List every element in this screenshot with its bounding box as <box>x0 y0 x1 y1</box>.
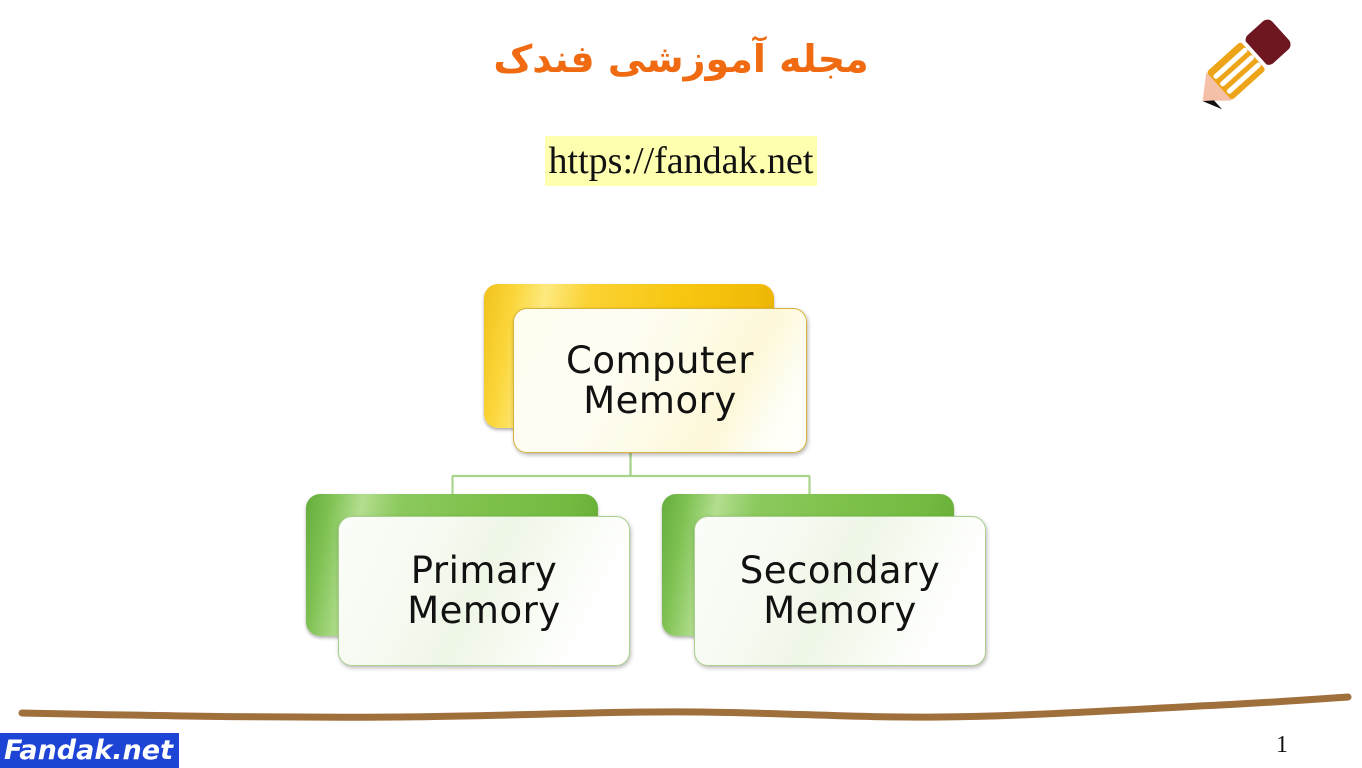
node-label-line-1: Computer <box>566 339 754 382</box>
node-label-line-2: Memory <box>583 379 736 422</box>
node-face[interactable]: Primary Memory <box>338 516 630 666</box>
node-computer-memory[interactable]: Computer Memory <box>484 284 814 459</box>
page-number: 1 <box>1262 730 1302 760</box>
site-url-link[interactable]: https://fandak.net <box>545 136 818 186</box>
page-title: مجله آموزشی فندک <box>0 30 1362 88</box>
node-label-line-2: Memory <box>407 589 560 632</box>
node-label-line-2: Memory <box>763 589 916 632</box>
node-face[interactable]: Secondary Memory <box>694 516 986 666</box>
node-label-line-1: Secondary <box>740 549 940 592</box>
node-secondary-memory[interactable]: Secondary Memory <box>662 494 988 668</box>
site-url-container: https://fandak.net <box>0 136 1362 186</box>
pencil-icon <box>1180 8 1310 118</box>
node-label: Secondary Memory <box>740 551 940 631</box>
node-primary-memory[interactable]: Primary Memory <box>306 494 632 668</box>
footer-divider <box>0 690 1362 738</box>
node-label-line-1: Primary <box>411 549 557 592</box>
node-label: Primary Memory <box>407 551 560 631</box>
slide-canvas: مجله آموزشی فندک https://fandak.net <box>0 0 1362 768</box>
node-label: Computer Memory <box>566 341 754 421</box>
watermark-badge: Fandak.net <box>0 733 179 768</box>
node-face[interactable]: Computer Memory <box>513 308 807 453</box>
